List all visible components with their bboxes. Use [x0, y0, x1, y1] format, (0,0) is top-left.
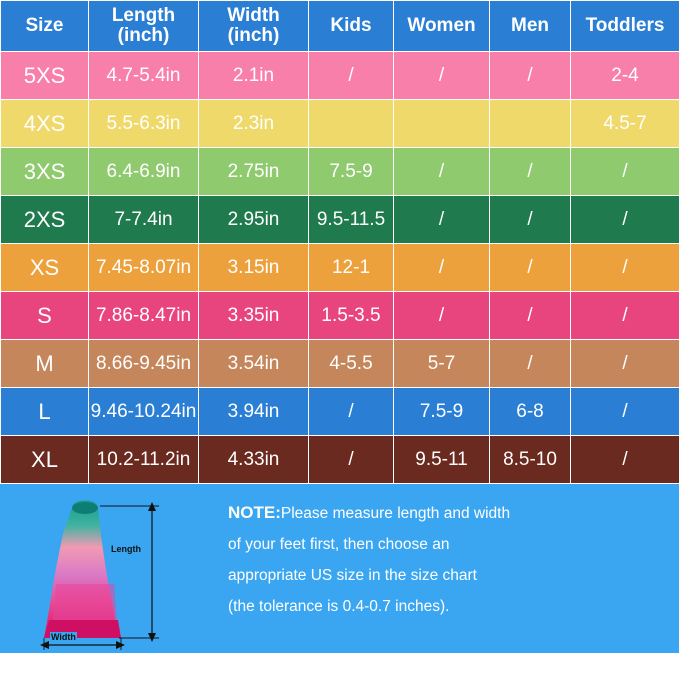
cell-women: 7.5-9 — [394, 388, 490, 436]
cell-men: / — [490, 148, 571, 196]
column-header-width-line2: (inch) — [199, 26, 308, 46]
cell-width: 3.94in — [199, 388, 309, 436]
cell-kids — [309, 100, 394, 148]
cell-men: / — [490, 244, 571, 292]
cell-kids: / — [309, 52, 394, 100]
cell-men: / — [490, 292, 571, 340]
cell-width: 2.1in — [199, 52, 309, 100]
column-header-women: Women — [394, 1, 490, 52]
cell-length: 6.4-6.9in — [89, 148, 199, 196]
note-line-4: (the tolerance is 0.4-0.7 inches). — [228, 591, 668, 622]
cell-men: 8.5-10 — [490, 436, 571, 484]
note-line-2: of your feet first, then choose an — [228, 529, 668, 560]
fin-foot-opening — [72, 502, 98, 514]
note-panel: Length Width NOTE:Please measure length … — [0, 484, 679, 653]
cell-size: XS — [1, 244, 89, 292]
column-header-kids: Kids — [309, 1, 394, 52]
table-row: M 8.66-9.45in 3.54in 4-5.5 5-7 / / — [1, 340, 679, 388]
note-line-1-text: Please measure length and width — [281, 505, 510, 522]
cell-length: 8.66-9.45in — [89, 340, 199, 388]
length-dimension-label: Length — [110, 544, 142, 554]
cell-kids: / — [309, 436, 394, 484]
width-arrow-left — [40, 641, 49, 649]
column-header-women-line1: Women — [394, 16, 489, 36]
cell-women: / — [394, 148, 490, 196]
table-row: XL 10.2-11.2in 4.33in / 9.5-11 8.5-10 / — [1, 436, 679, 484]
cell-women: / — [394, 292, 490, 340]
column-header-width: Width (inch) — [199, 1, 309, 52]
cell-length: 9.46-10.24in — [89, 388, 199, 436]
cell-men: / — [490, 340, 571, 388]
cell-size: L — [1, 388, 89, 436]
cell-men: 6-8 — [490, 388, 571, 436]
table-row: S 7.86-8.47in 3.35in 1.5-3.5 / / / — [1, 292, 679, 340]
cell-toddlers: / — [571, 436, 679, 484]
length-arrow-top — [148, 502, 156, 511]
note-label: NOTE: — [228, 503, 281, 522]
column-header-size-line1: Size — [1, 16, 88, 36]
note-line-1: NOTE:Please measure length and width — [228, 497, 668, 529]
size-chart-table: Size Length (inch) Width (inch) Kids Wom… — [0, 0, 679, 484]
column-header-length-line2: (inch) — [89, 26, 198, 46]
cell-width: 3.35in — [199, 292, 309, 340]
cell-women: 5-7 — [394, 340, 490, 388]
cell-kids: 12-1 — [309, 244, 394, 292]
cell-size: M — [1, 340, 89, 388]
cell-women: / — [394, 52, 490, 100]
cell-kids: 4-5.5 — [309, 340, 394, 388]
column-header-kids-line1: Kids — [309, 16, 393, 36]
cell-length: 10.2-11.2in — [89, 436, 199, 484]
cell-length: 7-7.4in — [89, 196, 199, 244]
cell-women: / — [394, 244, 490, 292]
column-header-size: Size — [1, 1, 89, 52]
cell-size: 5XS — [1, 52, 89, 100]
cell-width: 2.95in — [199, 196, 309, 244]
cell-length: 7.45-8.07in — [89, 244, 199, 292]
cell-toddlers: / — [571, 148, 679, 196]
fin-blade-window — [53, 584, 117, 620]
cell-size: 2XS — [1, 196, 89, 244]
cell-women — [394, 100, 490, 148]
cell-size: S — [1, 292, 89, 340]
cell-length: 5.5-6.3in — [89, 100, 199, 148]
cell-size: XL — [1, 436, 89, 484]
width-dimension-label: Width — [50, 632, 77, 642]
cell-toddlers: 2-4 — [571, 52, 679, 100]
cell-width: 3.15in — [199, 244, 309, 292]
column-header-toddlers-line1: Toddlers — [571, 16, 679, 36]
table-row: XS 7.45-8.07in 3.15in 12-1 / / / — [1, 244, 679, 292]
column-header-length-line1: Length — [89, 6, 198, 26]
cell-men: / — [490, 196, 571, 244]
table-row: L 9.46-10.24in 3.94in / 7.5-9 6-8 / — [1, 388, 679, 436]
table-row: 4XS 5.5-6.3in 2.3in 4.5-7 — [1, 100, 679, 148]
column-header-toddlers: Toddlers — [571, 1, 679, 52]
cell-width: 2.75in — [199, 148, 309, 196]
cell-size: 3XS — [1, 148, 89, 196]
cell-kids: 9.5-11.5 — [309, 196, 394, 244]
note-line-3: appropriate US size in the size chart — [228, 560, 668, 591]
table-row: 2XS 7-7.4in 2.95in 9.5-11.5 / / / — [1, 196, 679, 244]
cell-size: 4XS — [1, 100, 89, 148]
cell-toddlers: 4.5-7 — [571, 100, 679, 148]
cell-men — [490, 100, 571, 148]
table-row: 3XS 6.4-6.9in 2.75in 7.5-9 / / / — [1, 148, 679, 196]
width-arrow-right — [116, 641, 125, 649]
cell-toddlers: / — [571, 244, 679, 292]
table-header-row: Size Length (inch) Width (inch) Kids Wom… — [1, 1, 679, 52]
cell-toddlers: / — [571, 388, 679, 436]
cell-kids: 7.5-9 — [309, 148, 394, 196]
column-header-men: Men — [490, 1, 571, 52]
cell-kids: 1.5-3.5 — [309, 292, 394, 340]
cell-toddlers: / — [571, 340, 679, 388]
cell-women: / — [394, 196, 490, 244]
cell-kids: / — [309, 388, 394, 436]
cell-toddlers: / — [571, 196, 679, 244]
table-row: 5XS 4.7-5.4in 2.1in / / / 2-4 — [1, 52, 679, 100]
cell-width: 4.33in — [199, 436, 309, 484]
size-chart-page: Size Length (inch) Width (inch) Kids Wom… — [0, 0, 679, 679]
cell-width: 2.3in — [199, 100, 309, 148]
cell-width: 3.54in — [199, 340, 309, 388]
cell-toddlers: / — [571, 292, 679, 340]
length-arrow-bottom — [148, 633, 156, 642]
column-header-width-line1: Width — [199, 6, 308, 26]
column-header-men-line1: Men — [490, 16, 570, 36]
cell-men: / — [490, 52, 571, 100]
column-header-length: Length (inch) — [89, 1, 199, 52]
swim-fin-illustration — [22, 492, 212, 652]
cell-women: 9.5-11 — [394, 436, 490, 484]
table-body: 5XS 4.7-5.4in 2.1in / / / 2-4 4XS 5.5-6.… — [1, 52, 679, 484]
note-text-block: NOTE:Please measure length and width of … — [228, 497, 668, 622]
cell-length: 4.7-5.4in — [89, 52, 199, 100]
cell-length: 7.86-8.47in — [89, 292, 199, 340]
table-header: Size Length (inch) Width (inch) Kids Wom… — [1, 1, 679, 52]
